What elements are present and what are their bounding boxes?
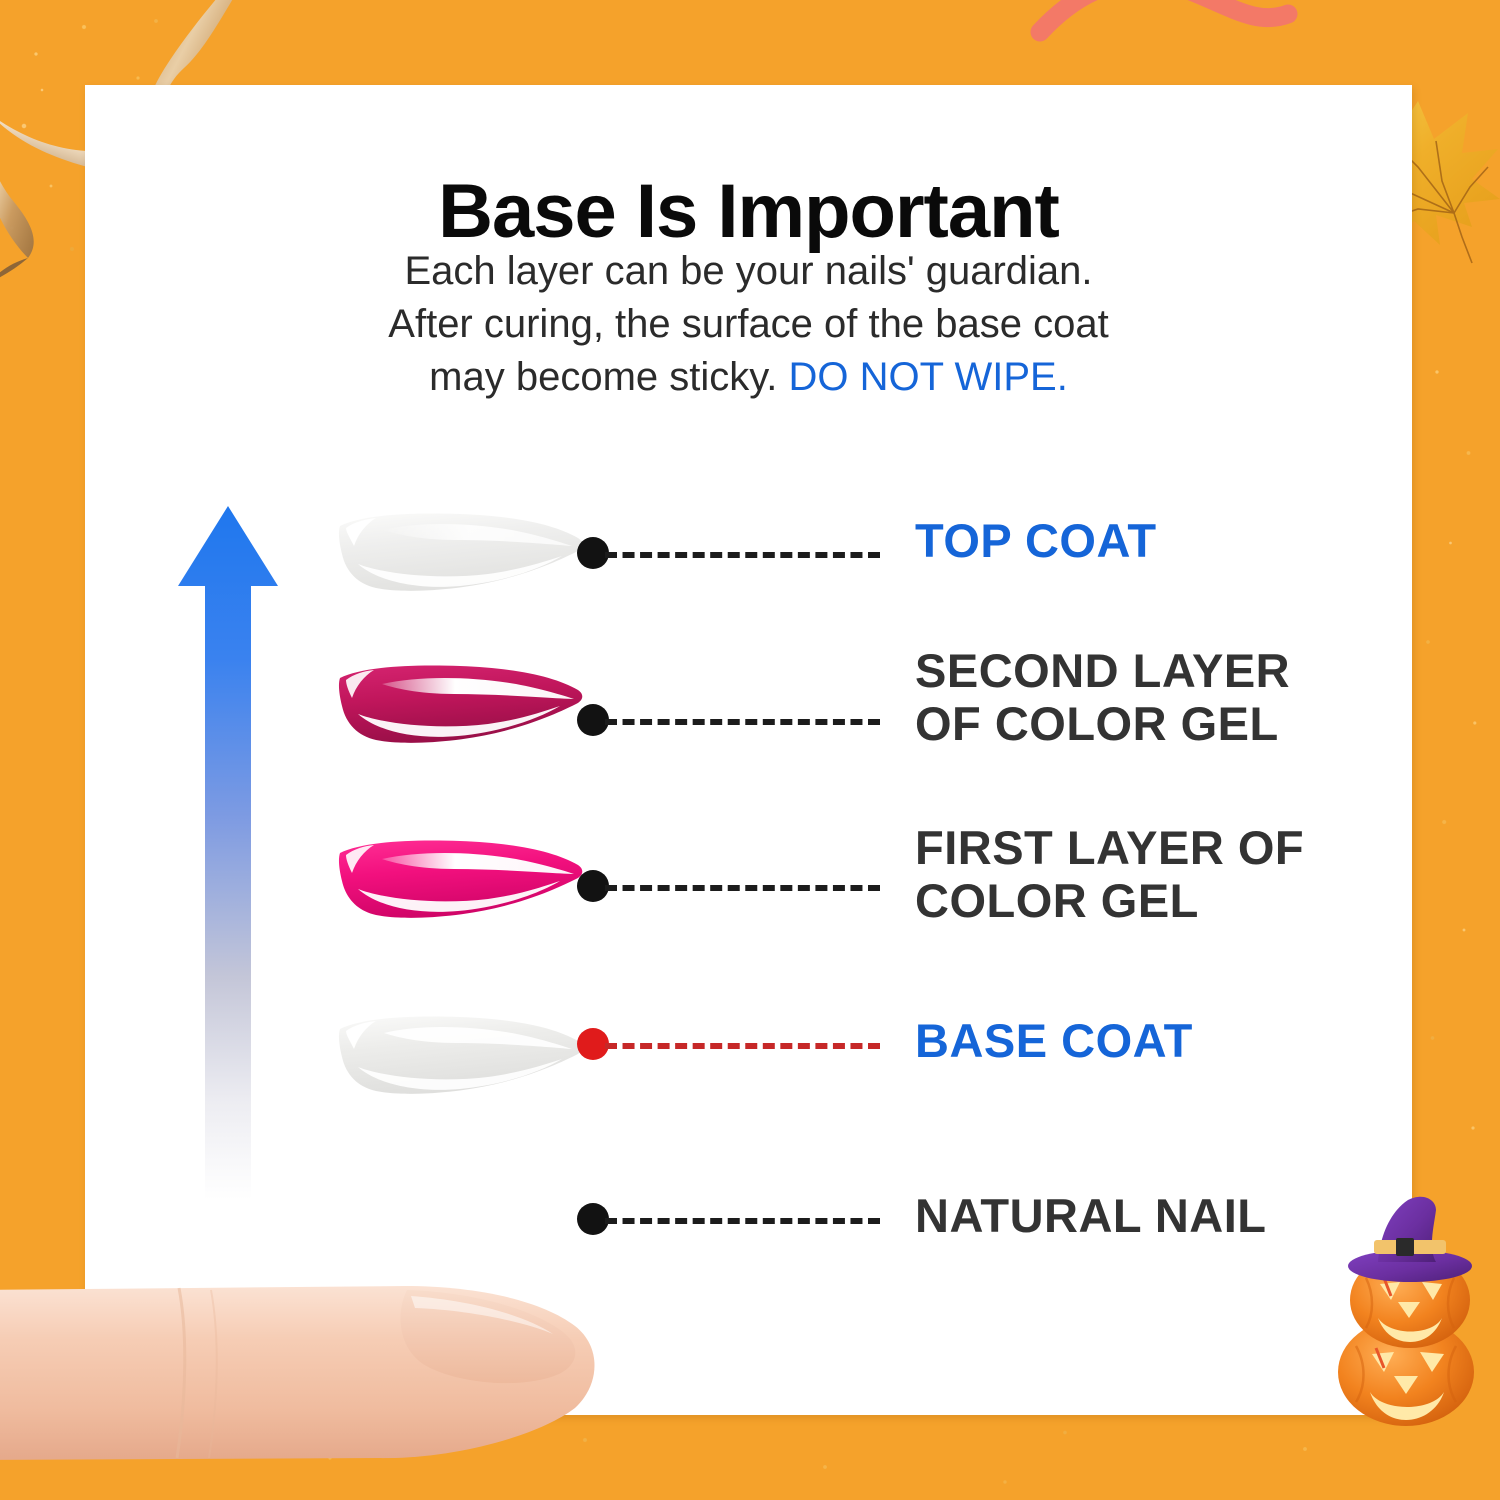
do-not-wipe-warning: DO NOT WIPE. — [789, 355, 1068, 399]
content-card: Base Is Important Each layer can be your… — [85, 85, 1412, 1415]
coral-confetti-top — [1020, 0, 1320, 80]
nail-shape-first-color-gel — [332, 827, 592, 937]
nail-shape-base-coat — [332, 1003, 592, 1113]
subtitle-line-3: may become sticky. DO NOT WIPE. — [85, 351, 1412, 404]
nail-shape-second-color-gel — [332, 652, 592, 762]
nail-shape-top-coat — [332, 500, 592, 610]
finger-with-natural-nail-photo — [0, 1260, 645, 1500]
subtitle-line-3-plain: may become sticky. — [429, 355, 788, 399]
connector-dashes-first-color-gel — [605, 885, 880, 891]
connector-dashes-base-coat — [605, 1043, 880, 1049]
connector-dashes-natural-nail — [605, 1218, 880, 1224]
layer-label-first-color-gel: FIRST LAYER OF COLOR GEL — [915, 822, 1304, 927]
build-up-direction-arrow-icon — [173, 500, 283, 1200]
connector-dashes-top-coat — [605, 552, 880, 558]
layer-label-second-color-gel: SECOND LAYER OF COLOR GEL — [915, 645, 1290, 750]
layer-label-natural-nail: NATURAL NAIL — [915, 1190, 1267, 1243]
connector-dashes-second-color-gel — [605, 719, 880, 725]
subtitle-paragraph: Each layer can be your nails' guardian. … — [85, 245, 1412, 405]
subtitle-line-2: After curing, the surface of the base co… — [85, 298, 1412, 351]
poster-canvas: Base Is Important Each layer can be your… — [0, 0, 1500, 1500]
subtitle-line-1: Each layer can be your nails' guardian. — [85, 245, 1412, 298]
jack-o-lantern-stack-bottom-right — [1332, 1196, 1500, 1446]
gold-glitter-texture-right — [1410, 300, 1500, 1200]
layer-label-top-coat: TOP COAT — [915, 515, 1157, 568]
page-title: Base Is Important — [85, 174, 1412, 250]
layer-label-base-coat: BASE COAT — [915, 1015, 1193, 1068]
